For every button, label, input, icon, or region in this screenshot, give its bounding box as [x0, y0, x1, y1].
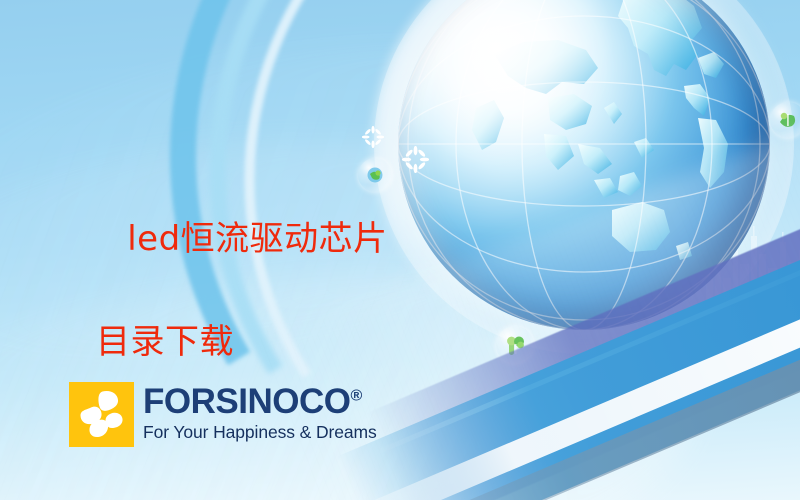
registered-trademark-icon: ®	[350, 387, 361, 404]
headline-line-1: led恒流驱动芯片	[127, 219, 387, 259]
logo-company-name: FORSINOCO®	[143, 384, 377, 419]
logo-text-block: FORSINOCO® For Your Happiness & Dreams	[143, 384, 377, 442]
promo-banner: led恒流驱动芯片 目录下载 FORSINOCO® For Your Happi…	[0, 0, 800, 500]
company-logo[interactable]: FORSINOCO® For Your Happiness & Dreams	[69, 382, 377, 447]
logo-tagline: For Your Happiness & Dreams	[143, 422, 377, 442]
headline-line-2: 目录下载	[82, 317, 502, 369]
four-petal-flower-icon	[69, 382, 134, 447]
logo-name-word: FORSINOCO	[143, 382, 350, 421]
sparkle-flower-icon	[362, 126, 384, 148]
